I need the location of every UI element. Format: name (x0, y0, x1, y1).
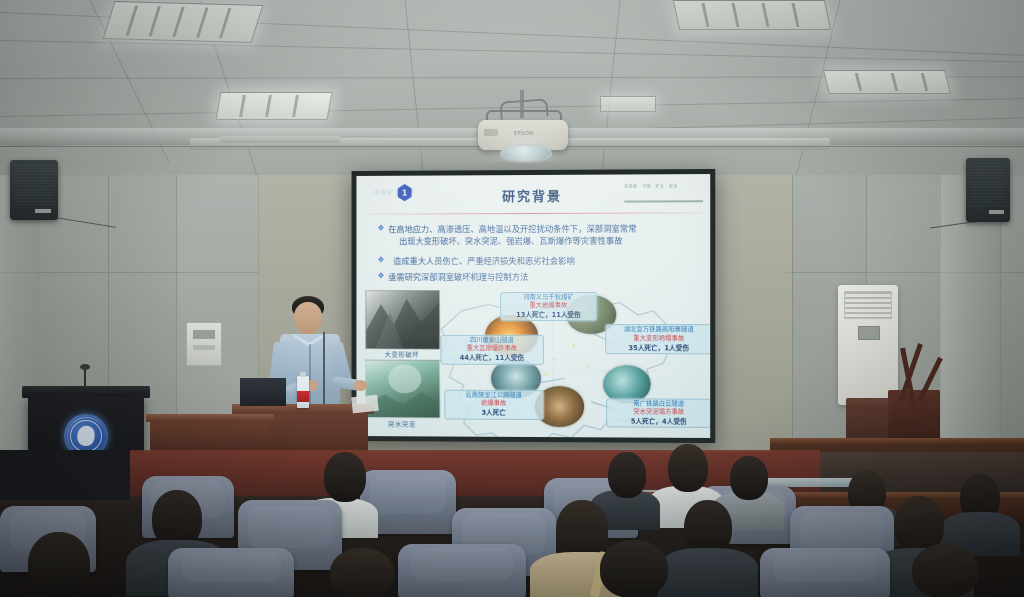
slide-bullet: ❖ 在高地应力、高渗透压、高地温以及开挖扰动条件下，深部洞室常常 出现大变形破坏… (377, 223, 636, 248)
microphone-stand (323, 332, 325, 412)
projection-screen: 中国矿业大学 1 研究背景 实验室 · 中国 · 矿业 · 安全 ❖ 在高地应力… (356, 174, 710, 438)
projector-mount (499, 98, 548, 119)
left-wall-speaker (10, 160, 58, 220)
callout-casualties: 35人死亡，1人受伤 (609, 344, 709, 353)
projector-lens (500, 144, 552, 163)
audience-head (668, 444, 708, 492)
callout-henan-yima: 河南义马千秋煤矿 重大岩爆事故 13人死亡，11人受伤 (500, 292, 597, 322)
callout-event: 重大瓦斯爆炸事故 (444, 345, 539, 354)
callout-hubei-yiwan: 湖北宜万铁路高阳寨隧道 重大变形坍塌事故 35人死亡，1人受伤 (605, 324, 710, 354)
floor-air-conditioner[interactable] (838, 285, 898, 405)
callout-sichuan-dongjiashan: 四川董家山隧道 重大瓦斯爆炸事故 44人死亡，11人受伤 (440, 335, 543, 365)
ceiling-light (673, 0, 831, 30)
dark-panel (0, 450, 130, 500)
bullet-line: 亟需研究深部洞室破坏机理与控制方法 (388, 271, 528, 283)
projector-brand-label: EPSON (514, 131, 534, 137)
water-inrush-photo-caption: 突水突泥 (365, 418, 438, 428)
bullet-line: 在高地应力、高渗透压、高地温以及开挖扰动条件下，深部洞室常常 (388, 223, 636, 236)
callout-casualties: 44人死亡，11人受伤 (444, 354, 539, 363)
ceiling-light (103, 1, 264, 43)
callout-title: 河南义马千秋煤矿 (504, 294, 593, 303)
slide-bullet: ❖ 造成重大人员伤亡、严重经济损失和恶劣社会影响 (377, 255, 574, 267)
deformation-photo (365, 290, 440, 349)
audience-chair[interactable] (398, 544, 526, 597)
slide-title-rule (365, 212, 701, 215)
paper-sheet (351, 395, 379, 414)
bullet-line: 出现大变形破坏、突水突泥、强岩爆、瓦斯爆作等灾害性事故 (388, 235, 636, 248)
ceiling-light (823, 70, 951, 94)
callout-event: 重大岩爆事故 (504, 302, 593, 311)
audience-chair[interactable] (760, 548, 890, 597)
callout-nanguang-baiyun: 南广铁路白云隧道 突水突泥塌方事故 5人死亡，4人受伤 (607, 398, 711, 428)
callout-casualties: 5人死亡，4人受伤 (611, 417, 708, 426)
ceiling-duct (220, 136, 340, 143)
bullet-marker-icon: ❖ (377, 273, 384, 280)
callout-event: 重大变形坍塌事故 (609, 335, 709, 344)
audience-head (730, 456, 768, 500)
podium-microphone-head (80, 364, 90, 370)
callout-yunnan-shilongjiang: 云南施龙江公路隧道 岩爆事故 3人死亡 (444, 390, 544, 420)
callout-title: 湖北宜万铁路高阳寨隧道 (609, 326, 709, 335)
deformation-photo-caption: 大变形破坏 (365, 349, 438, 359)
right-wall-speaker (966, 158, 1010, 222)
bullet-line: 造成重大人员伤亡、严重经济损失和恶劣社会影响 (388, 255, 575, 267)
presenter-shirt-placket (309, 344, 311, 408)
presenter-laptop[interactable] (240, 378, 286, 406)
screenshot-root: EPSON 中国矿业大学 1 研究背景 实验室 · 中国 · 矿业 · 安全 (0, 0, 1024, 597)
audience-head (324, 452, 366, 502)
water-bottle[interactable] (297, 376, 309, 408)
callout-event: 岩爆事故 (448, 400, 540, 409)
bullet-marker-icon: ❖ (377, 225, 384, 232)
audience-shoulders (658, 548, 758, 597)
wall-seam (792, 150, 793, 480)
slide-corner-logo-label: 实验室 · 中国 · 矿业 · 安全 (624, 184, 703, 190)
slide-canvas: 中国矿业大学 1 研究背景 实验室 · 中国 · 矿业 · 安全 ❖ 在高地应力… (356, 174, 710, 438)
projection-screen-frame: 中国矿业大学 1 研究背景 实验室 · 中国 · 矿业 · 安全 ❖ 在高地应力… (352, 169, 716, 443)
audience-head (28, 532, 90, 597)
ceiling-light (216, 92, 333, 120)
audience-chair[interactable] (168, 548, 294, 597)
side-cabinet-top (146, 414, 274, 422)
podium-microphone (84, 368, 86, 388)
callout-casualties: 13人死亡，11人受伤 (504, 311, 593, 320)
callout-casualties: 3人死亡 (448, 409, 540, 418)
audience-head (330, 548, 394, 597)
audience-head (600, 540, 668, 597)
bullet-marker-icon: ❖ (377, 256, 384, 263)
audience-head (912, 544, 978, 597)
slide-corner-logo: 实验室 · 中国 · 矿业 · 安全 (624, 184, 703, 203)
audience-head (608, 452, 646, 498)
wall-control-box[interactable] (186, 322, 222, 366)
presenter-hand (354, 380, 367, 391)
slide-bullet: ❖ 亟需研究深部洞室破坏机理与控制方法 (377, 271, 528, 283)
ceiling-light (600, 96, 656, 112)
